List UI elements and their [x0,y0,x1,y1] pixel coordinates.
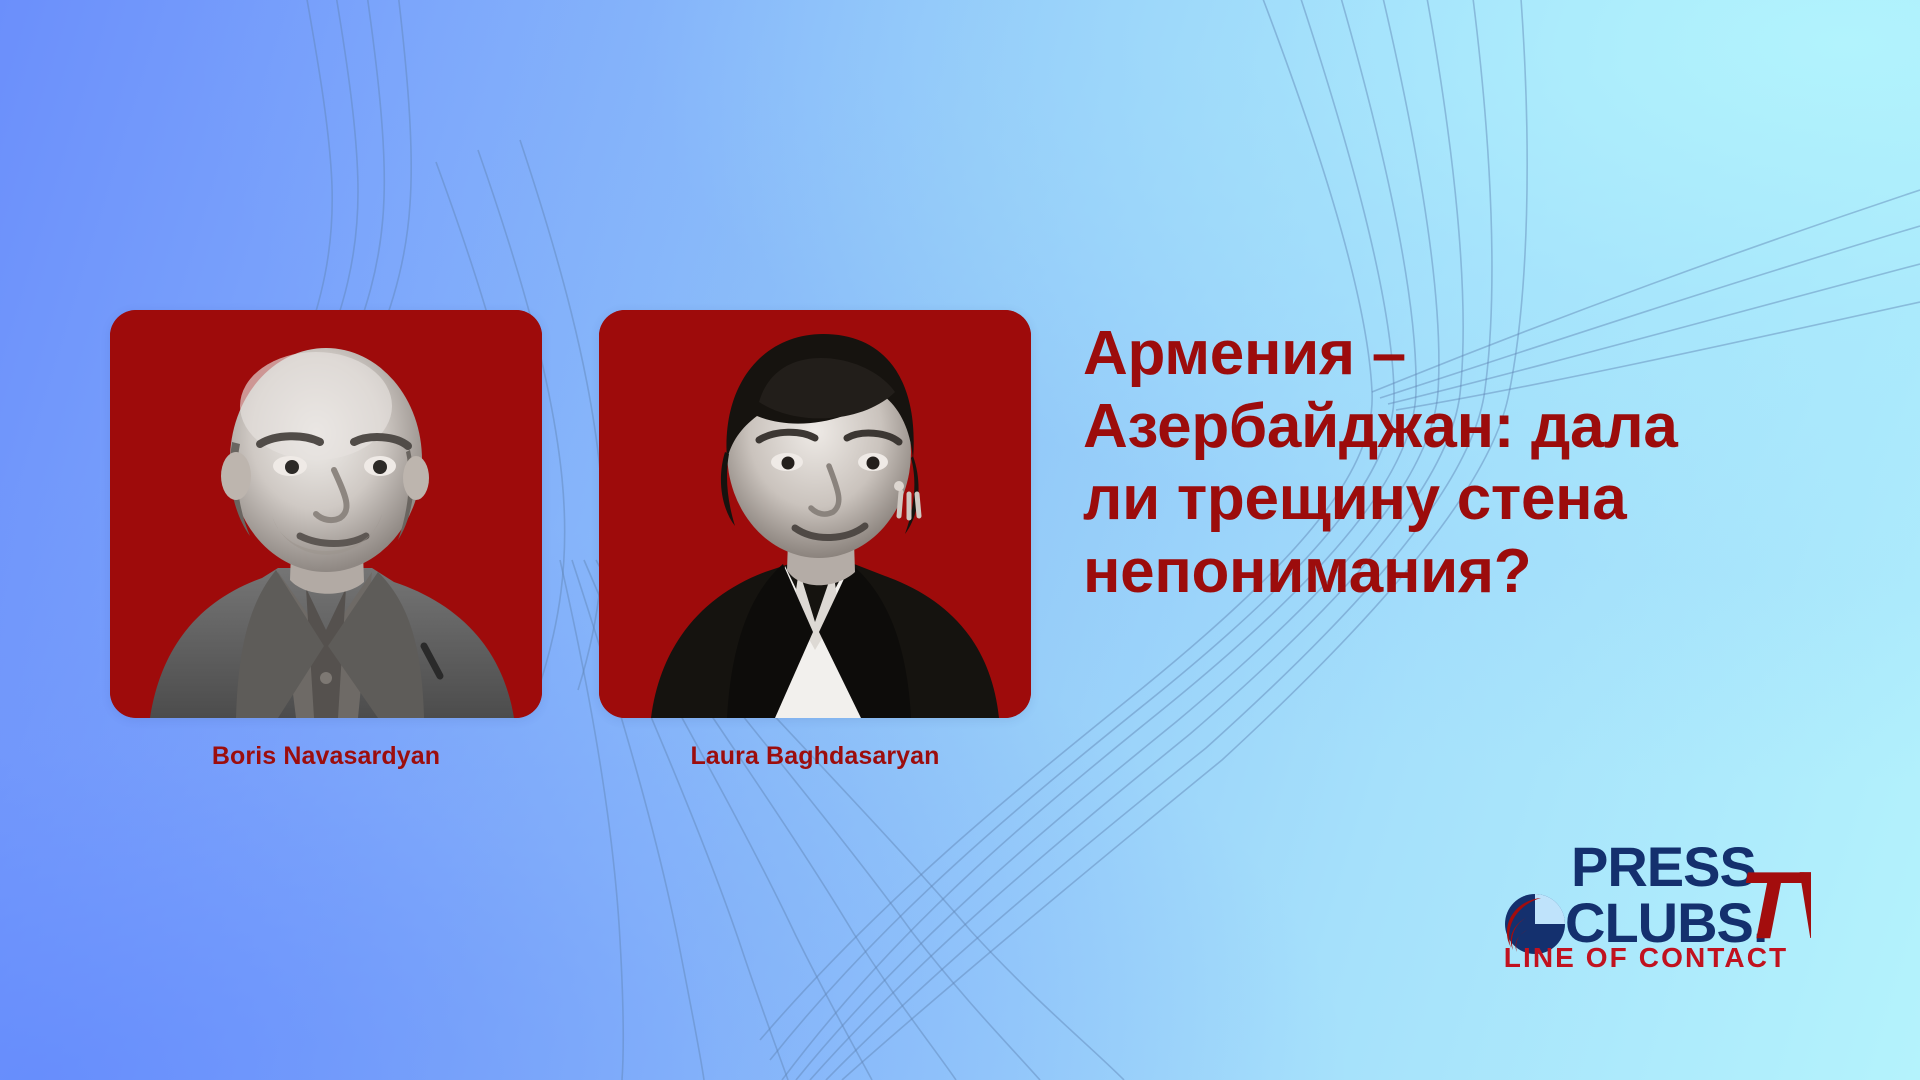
portrait-image-laura-baghdasaryan [599,310,1031,718]
portrait-image-boris-navasardyan [110,310,542,718]
guest-name-2: Laura Baghdasaryan [599,742,1031,771]
page-title: Армения – Азербайджан: дала ли трещину с… [1083,318,1873,608]
title-line-2: Азербайджан: дала [1083,391,1873,464]
pressclubs-tv-logo: PRESS CLUBS. TV LINE OF CONTACT [1481,820,1811,980]
guest-photo-card-1 [110,310,542,718]
title-line-1: Армения – [1083,318,1873,391]
title-line-4: непонимания? [1083,536,1873,609]
slide-canvas: Boris Navasardyan Laura Baghdasaryan Арм… [0,0,1920,1080]
logo-tagline: LINE OF CONTACT [1481,942,1811,974]
guest-name-1: Boris Navasardyan [110,742,542,771]
guest-photo-card-2 [599,310,1031,718]
svg-text:PRESS: PRESS [1571,835,1756,898]
title-line-3: ли трещину стена [1083,463,1873,536]
